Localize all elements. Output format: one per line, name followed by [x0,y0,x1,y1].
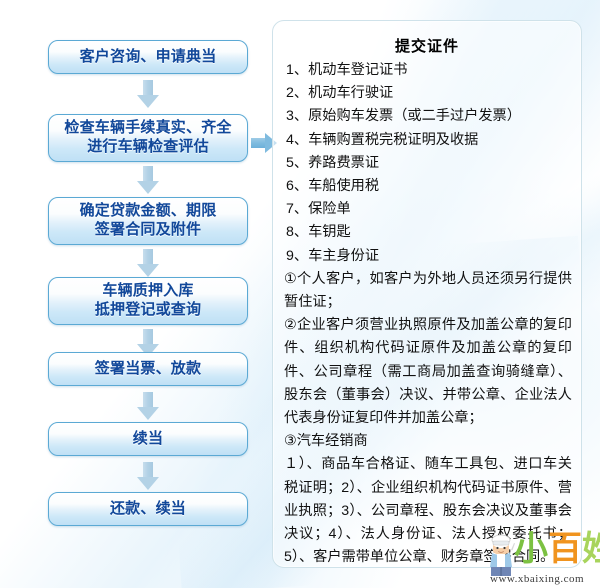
arrow-down-icon [137,249,159,277]
document-item: 8、车钥匙 [282,221,572,244]
document-note: ①个人客户，如客户为外地人员还须另行提供暂住证； [282,268,572,314]
watermark-url: www.xbaixing.com [490,573,584,585]
document-item: 3、原始购车发票（或二手过户发票） [282,105,572,128]
flow-step-3[interactable]: 确定贷款金额、期限 签署合同及附件 [48,197,248,245]
process-flow-column: 客户咨询、申请典当 检查车辆手续真实、齐全 进行车辆检查评估 确定贷款金额、期限… [48,0,248,588]
document-note: ②企业客户须营业执照原件及加盖公章的复印件、组织机构代码证原件及加盖公章的复印件… [282,314,572,430]
flow-step-5[interactable]: 签署当票、放款 [48,352,248,386]
flow-step-2-label: 检查车辆手续真实、齐全 进行车辆检查评估 [64,119,231,157]
flow-step-1-label: 客户咨询、申请典当 [80,48,217,67]
document-item: 6、车船使用税 [282,175,572,198]
flow-step-2[interactable]: 检查车辆手续真实、齐全 进行车辆检查评估 [48,114,248,162]
flow-step-7[interactable]: 还款、续当 [48,492,248,526]
document-item: 2、机动车行驶证 [282,82,572,105]
flow-step-6-label: 续当 [133,430,163,449]
flow-step-4[interactable]: 车辆质押入库 抵押登记或查询 [48,277,248,325]
document-item: 7、保险单 [282,198,572,221]
document-note: ③汽车经销商 [282,430,572,453]
arrow-down-icon [137,80,159,108]
arrow-down-icon [137,462,159,490]
flow-step-6[interactable]: 续当 [48,422,248,456]
flow-step-4-label: 车辆质押入库 抵押登记或查询 [95,282,201,320]
document-item: 4、车辆购置税完税证明及收据 [282,129,572,152]
flow-step-1[interactable]: 客户咨询、申请典当 [48,40,248,74]
document-note: １）、商品车合格证、随车工具包、进口车关税证明；2）、企业组织机构代码证书原件、… [282,453,572,569]
flowchart-diagram-canvas: 客户咨询、申请典当 检查车辆手续真实、齐全 进行车辆检查评估 确定贷款金额、期限… [0,0,600,588]
document-item: 5、养路费票证 [282,152,572,175]
documents-panel: 提交证件 1、机动车登记证书 2、机动车行驶证 3、原始购车发票（或二手过户发票… [272,20,582,568]
document-item: 1、机动车登记证书 [282,59,572,82]
flow-step-7-label: 还款、续当 [110,500,186,519]
watermark-char-3: 姓 [582,530,600,568]
arrow-down-icon [137,392,159,420]
documents-panel-title: 提交证件 [282,35,572,56]
flow-step-3-label: 确定贷款金额、期限 签署合同及附件 [80,202,217,240]
flow-step-5-label: 签署当票、放款 [95,360,201,379]
document-item: 9、车主身份证 [282,245,572,268]
arrow-down-icon [137,166,159,194]
